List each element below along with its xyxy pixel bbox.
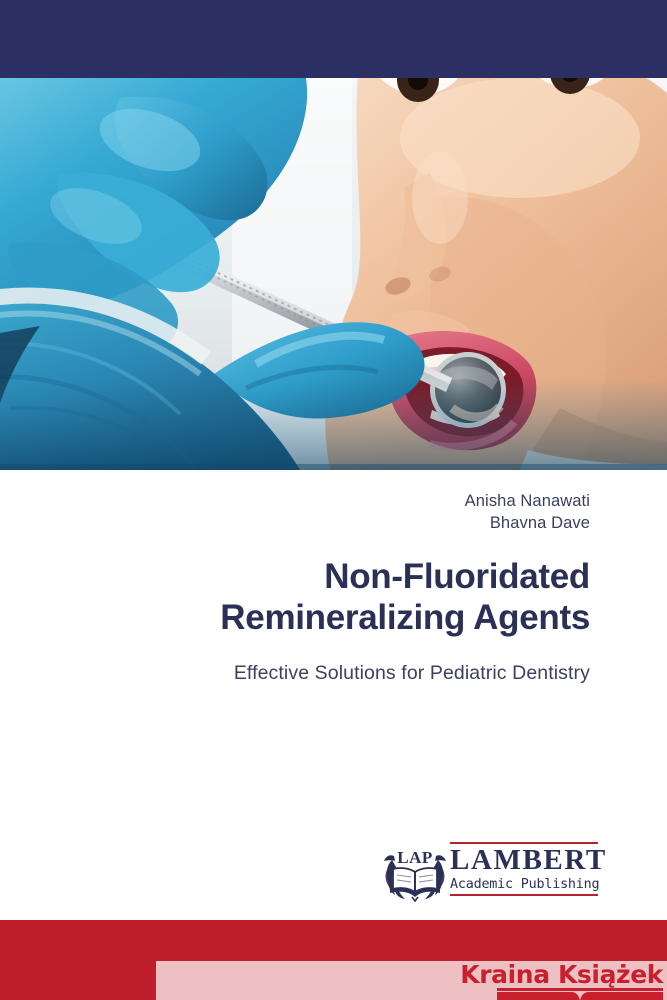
book-title-line: Non-Fluoridated (0, 556, 590, 597)
lap-emblem-icon: LAP (384, 844, 446, 902)
logo-rule-bottom (450, 894, 598, 896)
cover-text-block: Anisha Nanawati Bhavna Dave Non-Fluorida… (0, 470, 667, 686)
svg-text:LAP: LAP (397, 848, 433, 867)
cover-photo-illustration (0, 78, 667, 470)
cover-photo (0, 78, 667, 470)
publisher-wordmark: LAMBERT Academic Publishing (450, 842, 598, 896)
book-title-line: Remineralizing Agents (0, 597, 590, 638)
publisher-tagline: Academic Publishing (450, 876, 598, 893)
publisher-logo: LAP LAMBERT Academic Publishing (384, 842, 598, 904)
author-list: Anisha Nanawati Bhavna Dave (0, 490, 590, 534)
author-name: Bhavna Dave (0, 512, 590, 534)
watermark-overlay: Kraina Książek (156, 961, 667, 1000)
book-subtitle: Effective Solutions for Pediatric Dentis… (0, 660, 590, 686)
book-title: Non-Fluoridated Remineralizing Agents (0, 556, 590, 638)
publisher-name: LAMBERT (450, 845, 598, 876)
watermark-label: Kraina Książek (460, 961, 663, 989)
book-cover: Anisha Nanawati Bhavna Dave Non-Fluorida… (0, 0, 667, 1000)
watermark-book-icon (497, 988, 663, 1000)
top-navy-band (0, 0, 667, 78)
author-name: Anisha Nanawati (0, 490, 590, 512)
